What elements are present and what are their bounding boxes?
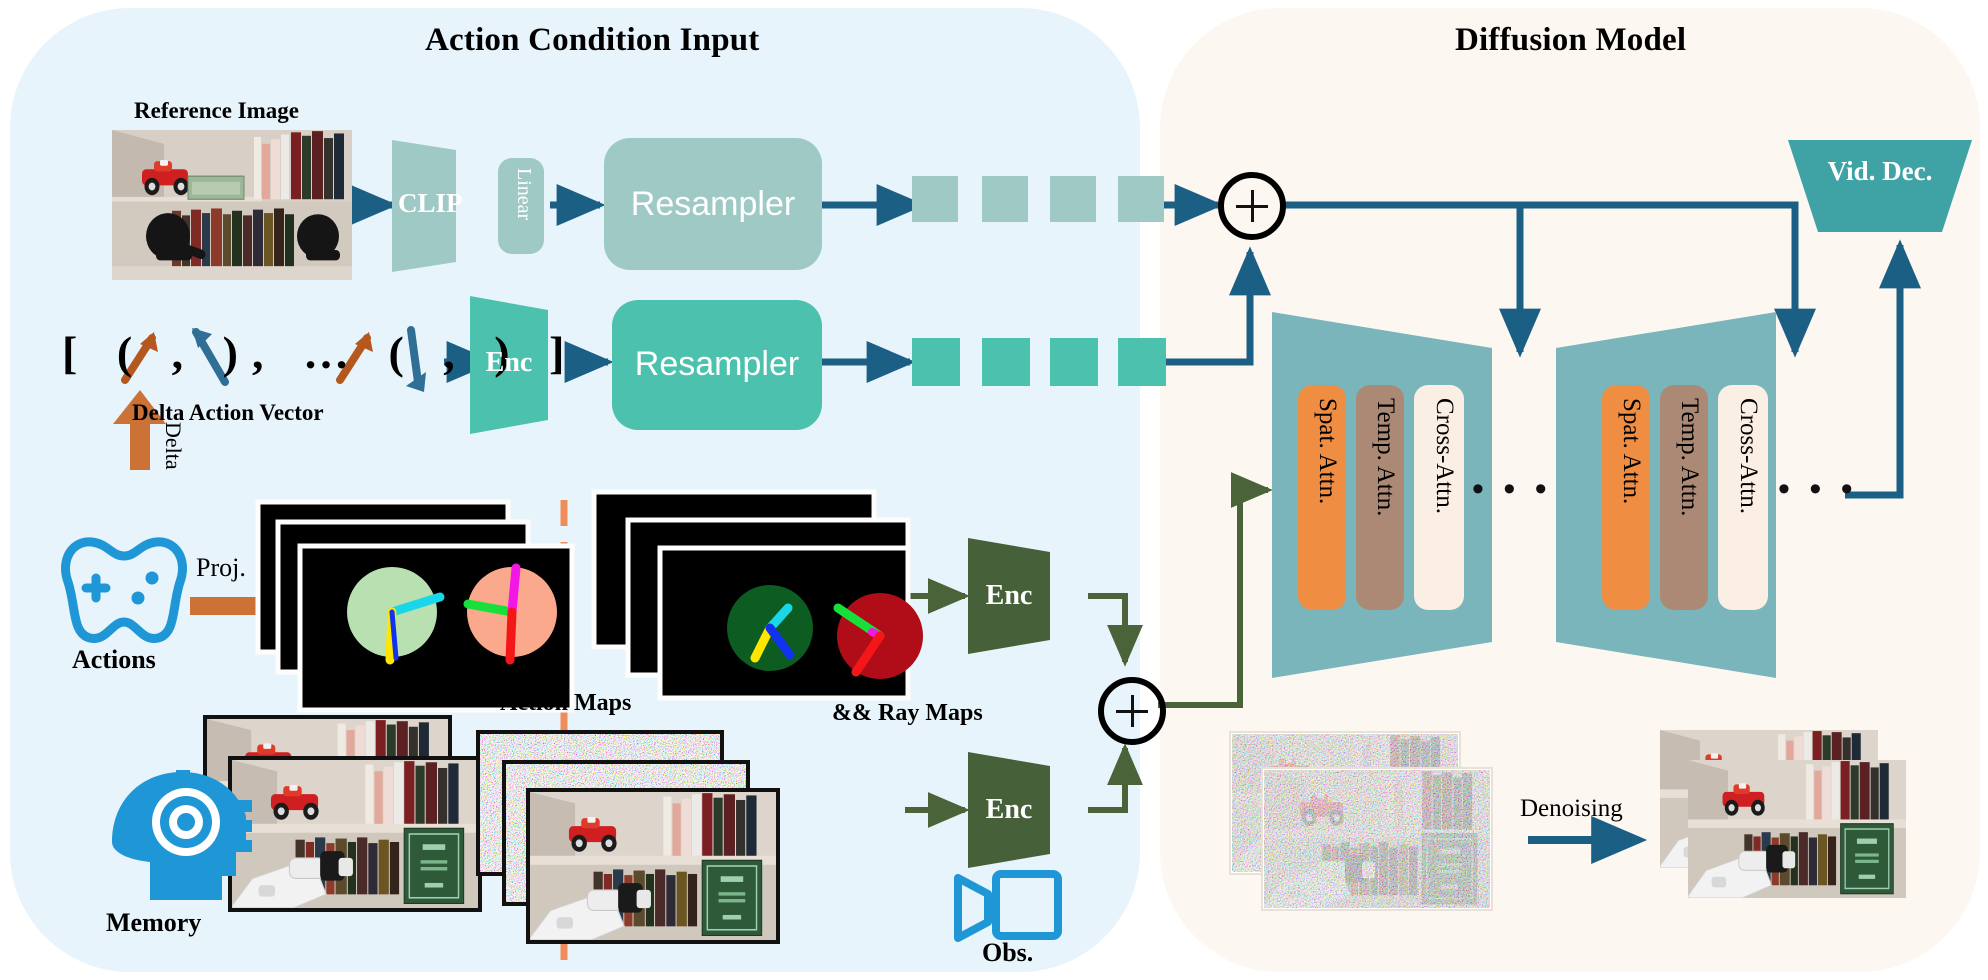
image-token [1118, 176, 1164, 222]
clip-label: CLIP [398, 188, 454, 219]
unet-down-ellipsis: • • • [1472, 472, 1552, 506]
linear-label: Linear [512, 168, 535, 220]
obs-label: Obs. [982, 938, 1033, 968]
proj-label: Proj. [196, 553, 246, 583]
action-condition-input-panel [10, 8, 1140, 972]
vid-dec-label: Vid. Dec. [1818, 155, 1942, 189]
unet-down-temp-attn-label: Temp. Attn. [1371, 398, 1399, 516]
image-token [1050, 176, 1096, 222]
merge-plus-top [1218, 172, 1286, 240]
image-token [912, 176, 958, 222]
action-token [1118, 338, 1166, 386]
vid-dec-text: Vid. Dec. [1828, 156, 1933, 186]
resampler-image-label: Resampler [604, 185, 822, 224]
actions-label: Actions [72, 645, 156, 675]
memory-label: Memory [106, 908, 201, 938]
unet-up-cross-attn-label: Cross-Attn. [1734, 398, 1762, 514]
delta-arrow-label: Delta [160, 422, 186, 470]
action-maps-label: Action Maps [500, 690, 631, 717]
enc-obs-label: Enc [968, 794, 1050, 826]
unet-down-spat-attn-label: Spat. Attn. [1313, 398, 1341, 504]
unet-up-ellipsis: • • • [1778, 472, 1858, 506]
reference-image-label: Reference Image [134, 98, 299, 124]
unet-up-temp-attn-label: Temp. Attn. [1675, 398, 1703, 516]
action-token [1050, 338, 1098, 386]
panel-title-action-condition-input: Action Condition Input [425, 22, 760, 59]
denoising-label: Denoising [1520, 795, 1623, 823]
ray-maps-label: && Ray Maps [832, 700, 983, 727]
image-token [982, 176, 1028, 222]
merge-plus-bottom [1098, 677, 1166, 745]
enc-action-label: Enc [470, 347, 548, 379]
panel-title-diffusion-model: Diffusion Model [1455, 22, 1686, 59]
unet-down-cross-attn-label: Cross-Attn. [1430, 398, 1458, 514]
action-token [982, 338, 1030, 386]
enc-raymaps-label: Enc [968, 580, 1050, 612]
resampler-action-label: Resampler [612, 345, 822, 384]
action-token [912, 338, 960, 386]
diagram-canvas: Action Condition Input Diffusion Model [0, 0, 1988, 980]
unet-up-spat-attn-label: Spat. Attn. [1617, 398, 1645, 504]
